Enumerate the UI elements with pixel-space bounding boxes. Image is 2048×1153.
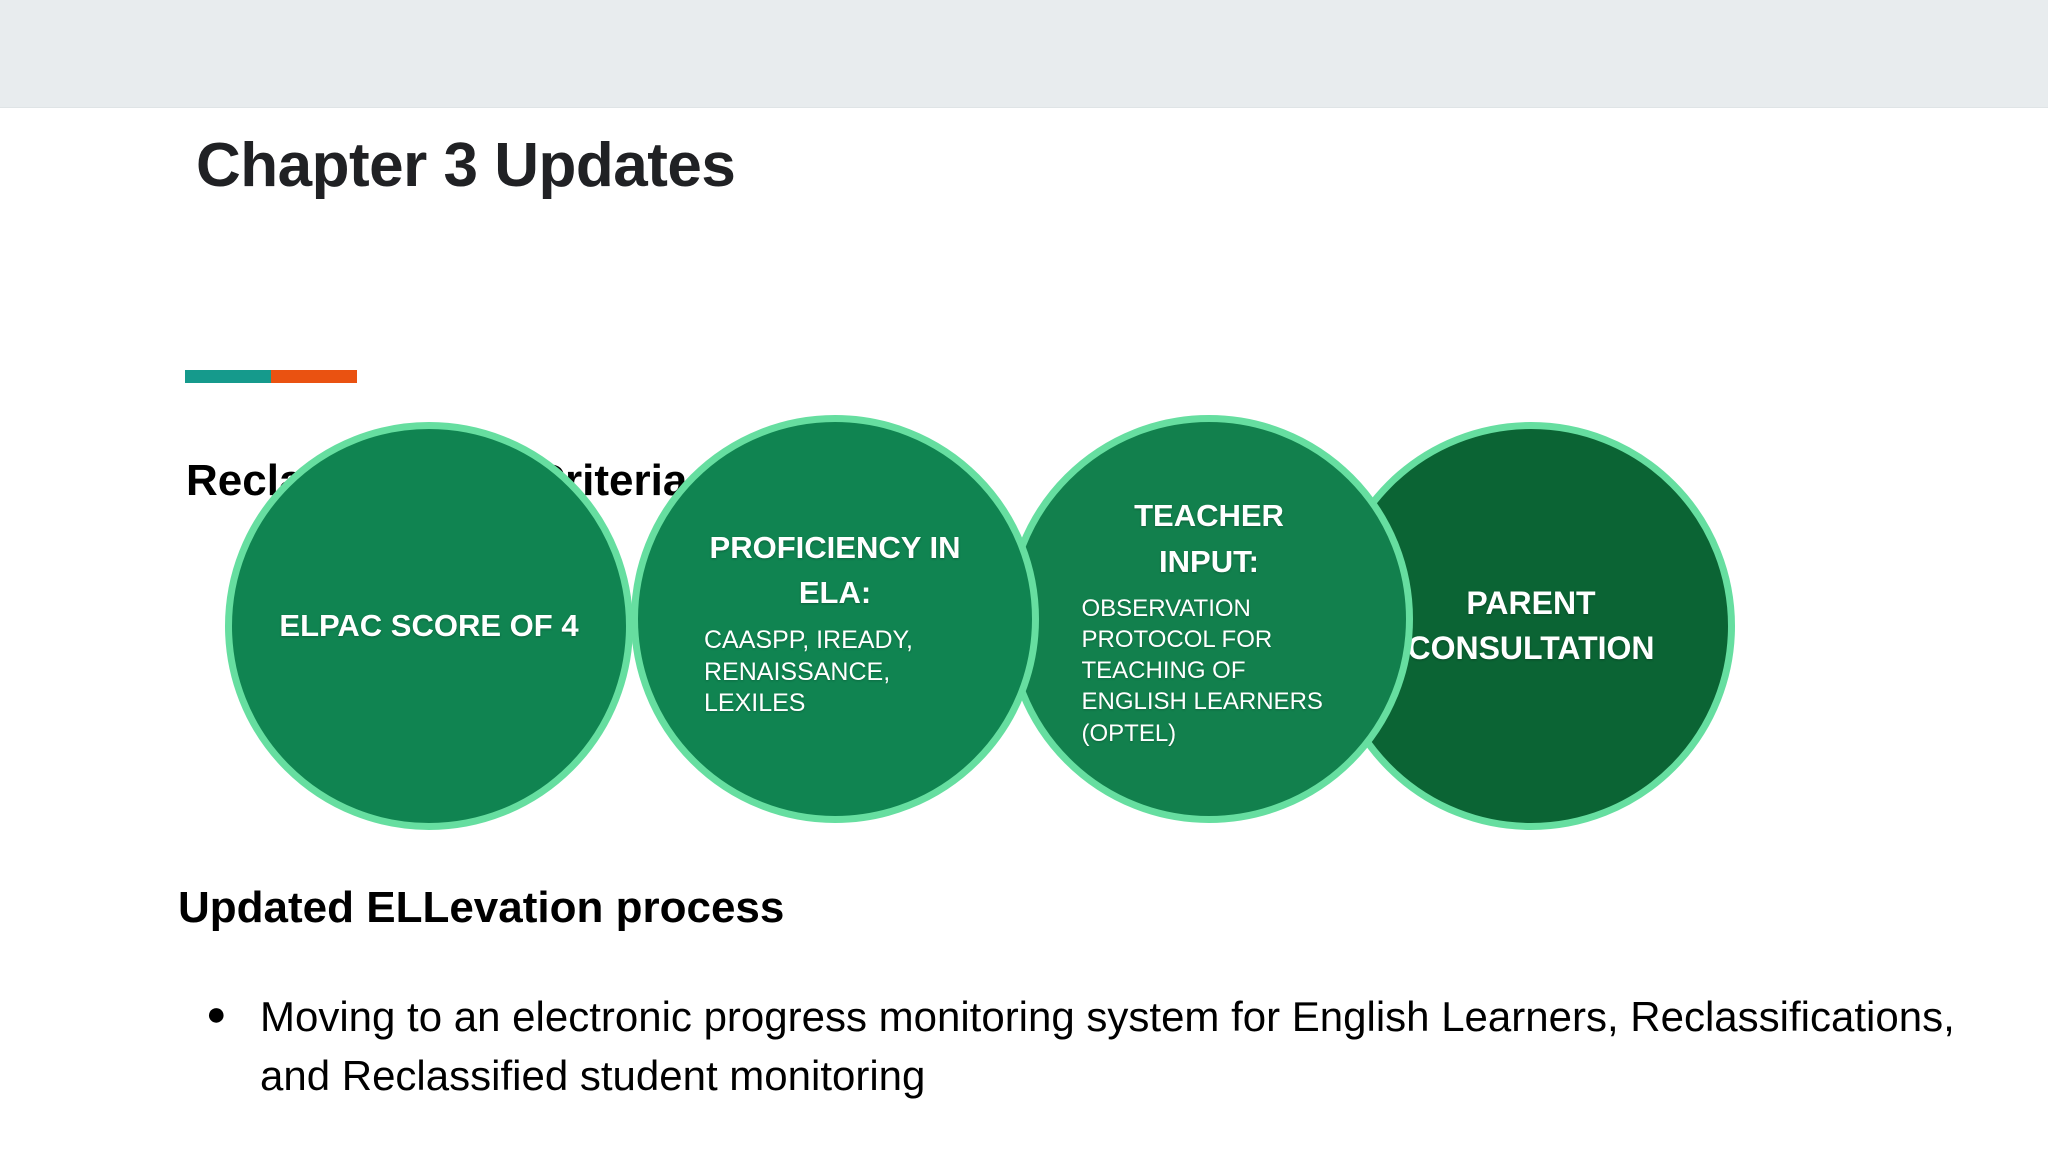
list-item: ● Moving to an electronic progress monit… (200, 988, 2000, 1106)
criteria-circle-title: PROFICIENCY IN ELA: (704, 525, 966, 616)
bullet-list: ● Moving to an electronic progress monit… (200, 988, 2000, 1106)
page-title: Chapter 3 Updates (196, 130, 735, 201)
browser-top-bar (0, 0, 2048, 108)
criteria-circle-subtitle: CAASPP, IREADY, RENAISSANCE, LEXILES (704, 625, 966, 720)
criteria-circle-title: TEACHER INPUT: (1082, 493, 1337, 585)
criteria-circle-ela: PROFICIENCY IN ELA: CAASPP, IREADY, RENA… (631, 415, 1039, 823)
criteria-circle-title: ELPAC SCORE OF 4 (279, 604, 579, 648)
bullet-dot-icon: ● (200, 988, 260, 1041)
criteria-circle-teacher-input: TEACHER INPUT: OBSERVATION PROTOCOL FOR … (1005, 415, 1413, 823)
criteria-circle-elpac: ELPAC SCORE OF 4 (225, 422, 633, 830)
accent-bar-orange-segment (271, 370, 357, 383)
body-heading: Updated ELLevation process (178, 883, 784, 933)
criteria-circle-subtitle: OBSERVATION PROTOCOL FOR TEACHING OF ENG… (1082, 593, 1337, 749)
accent-bar-teal-segment (185, 370, 271, 383)
slide-canvas: Chapter 3 Updates Reclassification Crite… (0, 108, 2048, 1153)
list-item-text: Moving to an electronic progress monitor… (260, 988, 2000, 1106)
accent-bar (185, 370, 357, 383)
criteria-circle-title: PARENT CONSULTATION (1381, 581, 1681, 672)
